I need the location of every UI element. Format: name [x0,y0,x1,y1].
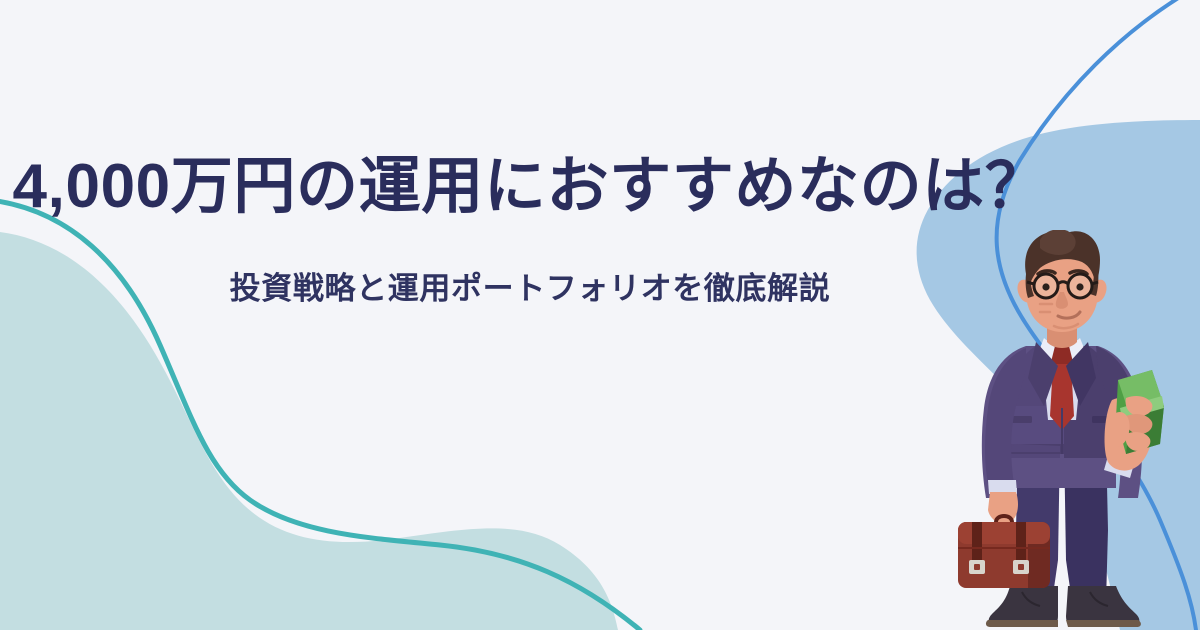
briefcase-lid [958,522,1050,544]
eye-right [1076,283,1083,290]
eyecatch-card: 4,000万円の運用におすすめなのは？ 投資戦略と運用ポートフォリオを徹底解説 [0,0,1200,630]
glasses-temple-right [1092,282,1098,284]
text-block: 4,000万円の運用におすすめなのは？ 投資戦略と運用ポートフォリオを徹底解説 [0,150,1060,309]
page-title: 4,000万円の運用におすすめなのは？ [0,150,1060,223]
hand-left [988,492,1018,523]
eye-left [1042,283,1049,290]
glasses-temple-left [1027,282,1034,284]
businessman-illustration [940,230,1200,630]
shoe-right-sole [1066,620,1141,627]
suit-pocket-left [1012,416,1032,423]
shoe-left-sole [986,620,1058,627]
hair-quiff [1040,230,1076,255]
shirt-cuff-left [988,480,1017,494]
briefcase-buckle-right-hole [1018,564,1024,570]
page-subtitle: 投資戦略と運用ポートフォリオを徹底解説 [0,223,1060,309]
briefcase-buckle-left-hole [974,564,980,570]
